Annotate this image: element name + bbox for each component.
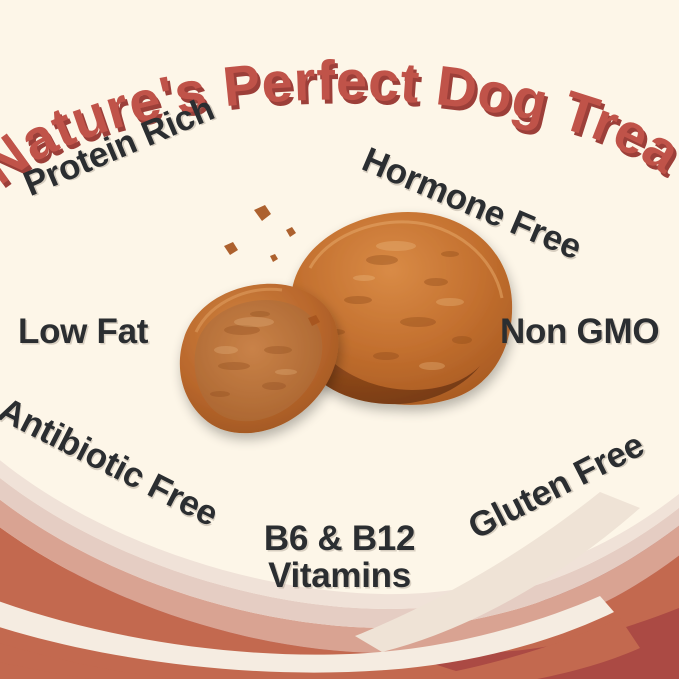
wave-terracotta-lower xyxy=(0,618,640,679)
product-feature-poster: Nature's Perfect Dog Treat Nature's Perf… xyxy=(0,0,679,679)
vitamins-line-1: B6 & B12 xyxy=(0,520,679,557)
benefit-label-vitamins: B6 & B12 Vitamins xyxy=(0,520,679,594)
wave-cream-swoosh xyxy=(0,596,614,673)
benefit-label-non-gmo: Non GMO xyxy=(500,312,659,352)
product-image xyxy=(150,190,530,490)
benefit-label-low-fat: Low Fat xyxy=(18,312,148,352)
treat-piece-small xyxy=(180,284,338,433)
vitamins-line-2: Vitamins xyxy=(0,557,679,594)
